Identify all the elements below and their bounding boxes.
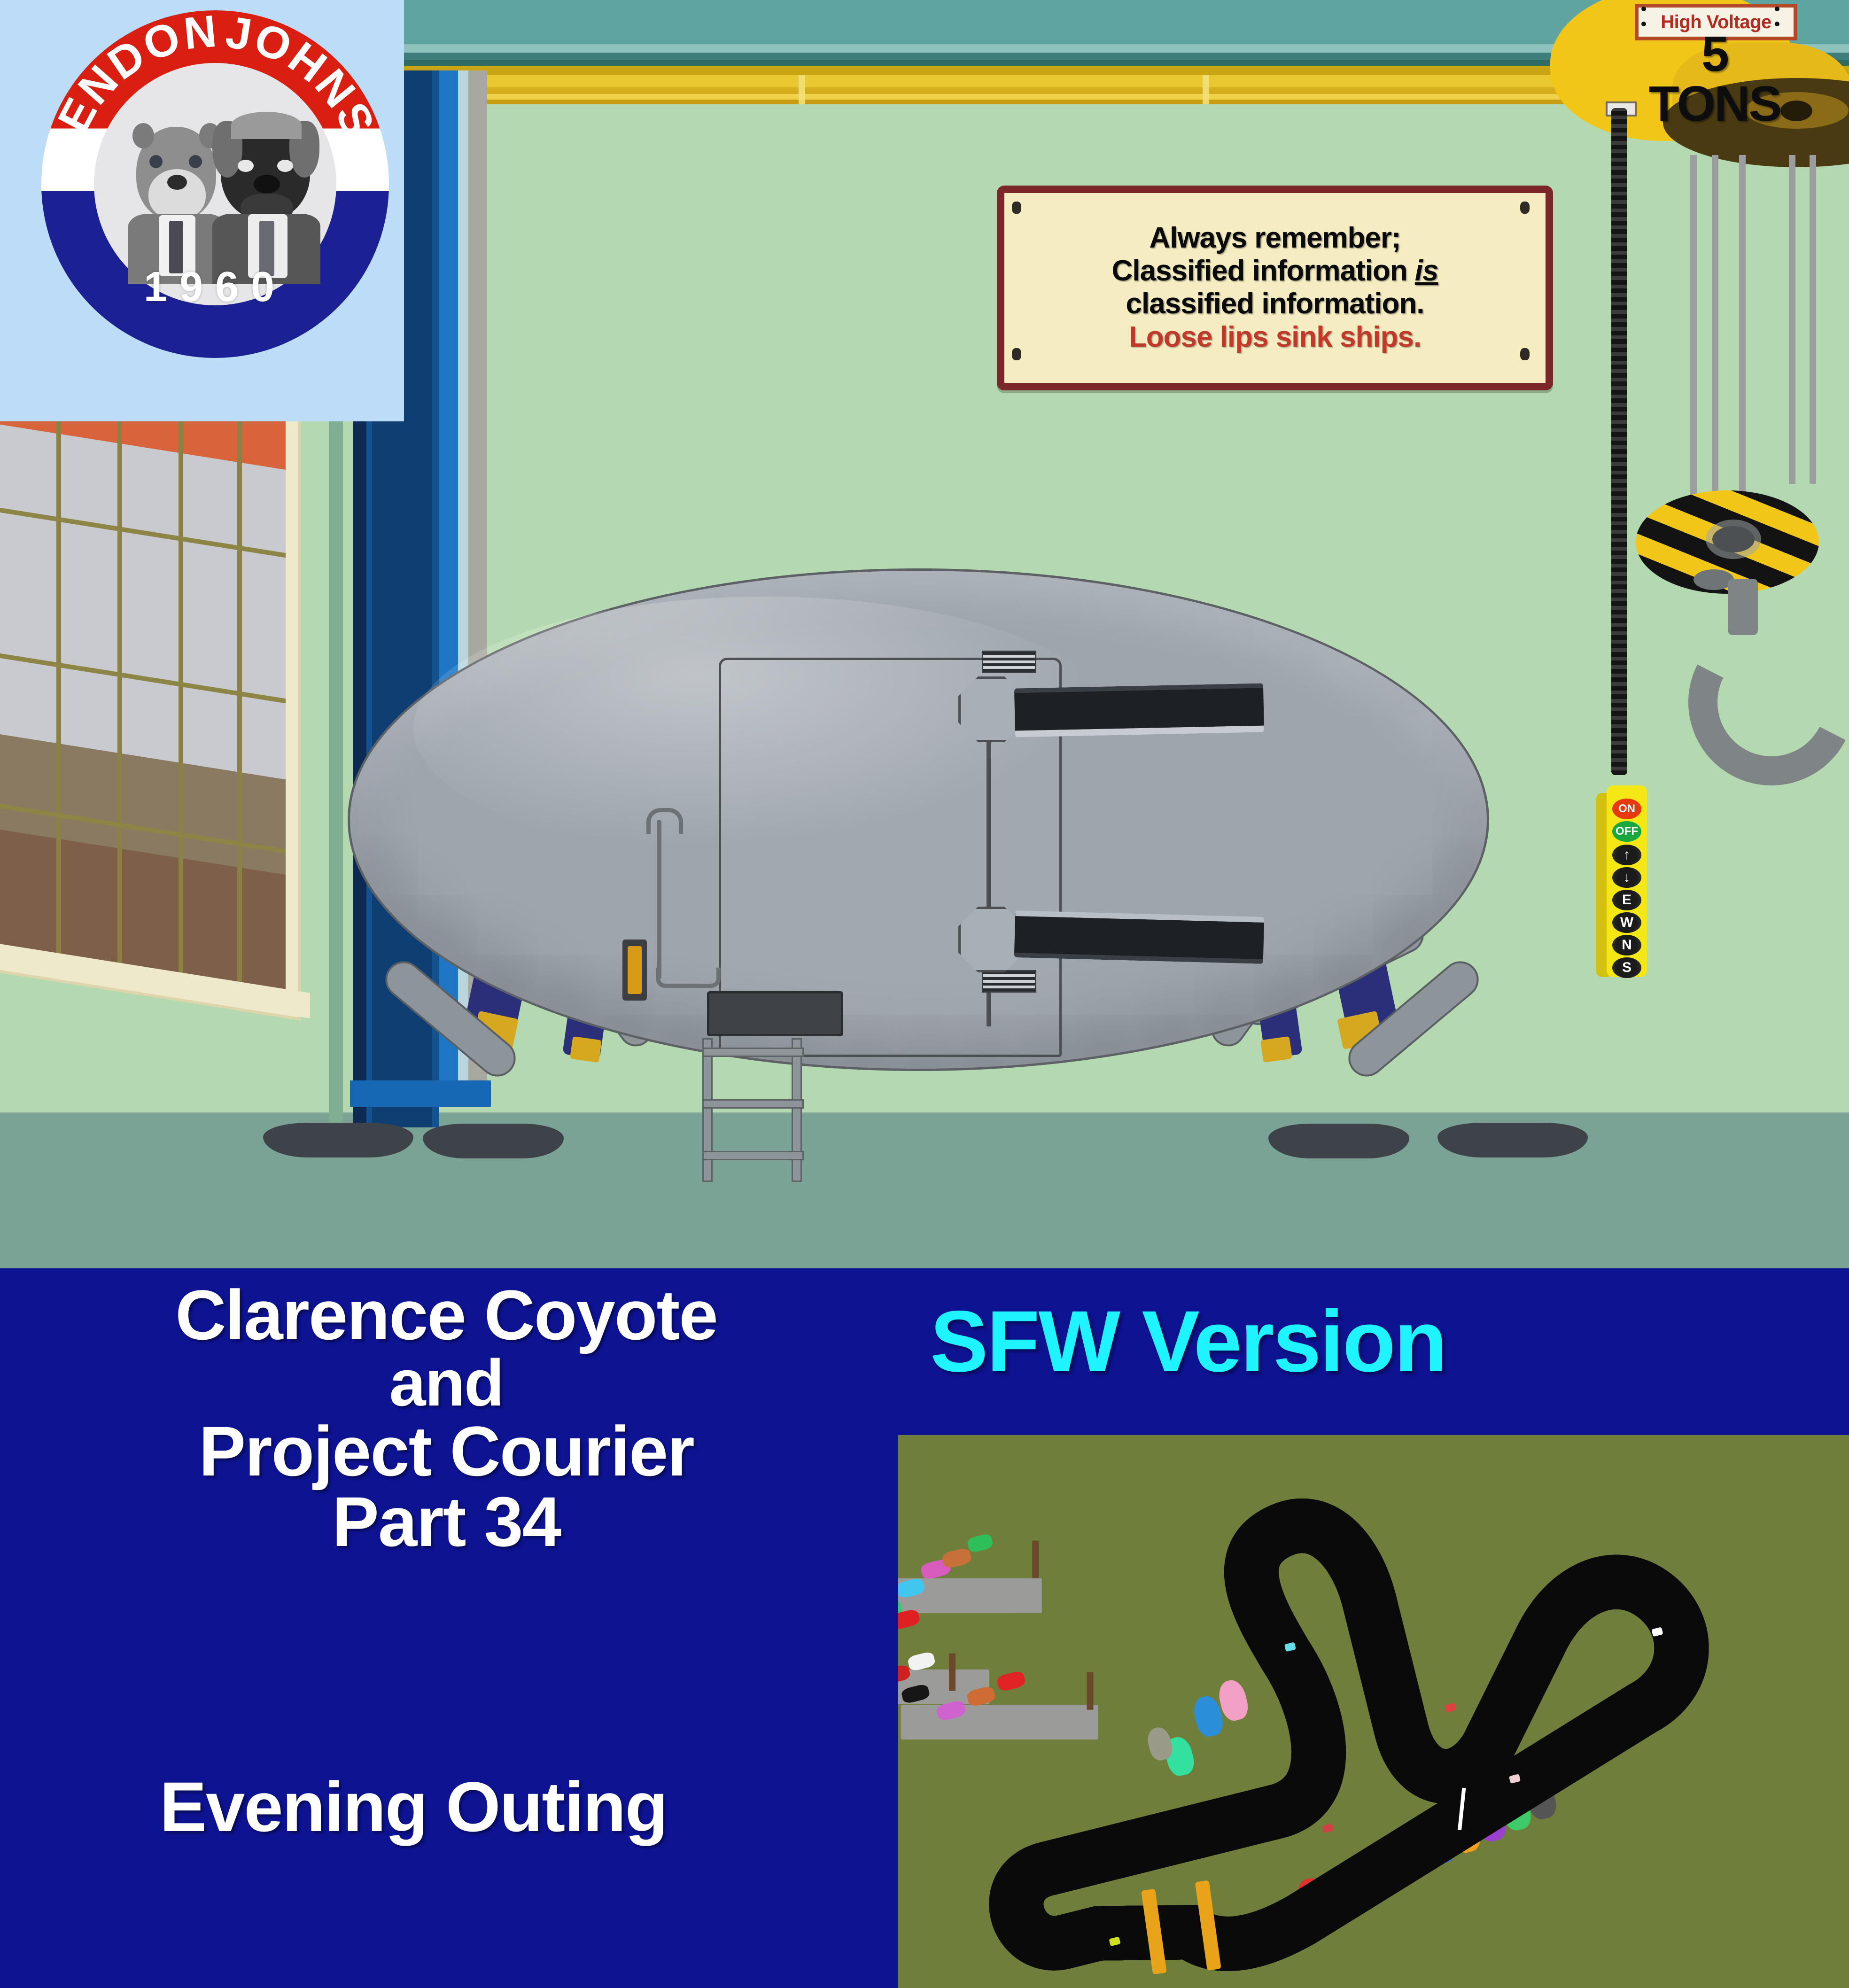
on-button[interactable]: ON — [1612, 799, 1641, 819]
security-notice-sign: Always remember; Classified information … — [997, 186, 1553, 390]
sign-screw — [1520, 202, 1530, 214]
hoist-block-sheave — [1712, 526, 1755, 552]
bridge-south-button[interactable]: S — [1612, 957, 1641, 978]
hull-conduit-end — [656, 968, 721, 988]
crane-capacity-label: 5 TONS — [1630, 29, 1799, 129]
hoist-up-label: ↑ — [1624, 848, 1631, 862]
window-view-outside — [0, 365, 286, 1006]
sign-line-2-text: Classified information — [1111, 255, 1414, 287]
sign-line-3: classified information. — [1126, 287, 1424, 320]
hull-vane-upper — [1014, 683, 1264, 737]
poster-root: Always remember; Classified information … — [0, 0, 1849, 1988]
hull-marker-light — [628, 946, 642, 994]
hoist-down-button[interactable]: ↓ — [1612, 867, 1641, 888]
label-rivet — [1775, 7, 1779, 11]
trolley-east-button[interactable]: E — [1612, 890, 1641, 910]
off-button-label: OFF — [1616, 826, 1638, 837]
crane-hook — [1671, 579, 1812, 734]
window-mullion-vertical — [237, 403, 242, 999]
sign-screw — [1520, 348, 1530, 360]
bridge-south-label: S — [1622, 961, 1631, 975]
bridge-north-button[interactable]: N — [1612, 935, 1641, 955]
hoist-cable — [1810, 155, 1816, 484]
hull-vane-lower — [1014, 910, 1264, 964]
bridge-north-label: N — [1622, 938, 1632, 952]
trolley-east-label: E — [1622, 893, 1631, 907]
landing-pad — [263, 1123, 413, 1157]
label-rivet — [1641, 7, 1646, 11]
window-mullion-vertical — [56, 374, 61, 971]
boarding-ladder — [702, 1038, 801, 1179]
sign-screw — [1012, 202, 1021, 214]
hoist-up-button[interactable]: ↑ — [1612, 845, 1641, 865]
logo-year: 1960 — [41, 263, 389, 311]
sign-line-1: Always remember; — [1149, 222, 1400, 255]
title-line-2: and — [0, 1350, 893, 1416]
hatch-latch-bottom — [982, 970, 1036, 993]
hoist-down-label: ↓ — [1624, 870, 1631, 885]
on-button-label: ON — [1618, 803, 1635, 815]
svg-text:KENDON: KENDON — [41, 10, 220, 171]
label-rivet — [1775, 22, 1779, 26]
sign-line-2-emphasis: is — [1415, 255, 1438, 287]
landing-pad — [1268, 1124, 1409, 1158]
title-line-3: Project Courier — [0, 1416, 893, 1486]
sign-warning-line: Loose lips sink ships. — [1129, 320, 1421, 354]
pendant-cable — [1611, 108, 1627, 775]
sfw-version-badge: SFW Version — [930, 1292, 1823, 1391]
sign-line-2: Classified information is — [1111, 255, 1438, 287]
title-line-1: Clarence Coyote — [0, 1280, 893, 1350]
hull-conduit-bend — [646, 808, 683, 834]
hangar-scene: Always remember; Classified information … — [0, 0, 1849, 1268]
landing-pad — [1437, 1123, 1588, 1157]
hull-conduit — [657, 820, 661, 979]
window-mullion-vertical — [117, 383, 122, 980]
sign-screw — [1012, 348, 1021, 360]
hatch-latch-top — [982, 651, 1036, 673]
hoist-cable — [1690, 155, 1697, 503]
off-button[interactable]: OFF — [1612, 821, 1641, 842]
window-mullion-vertical — [179, 393, 183, 990]
series-title: Clarence Coyote and Project Courier Part… — [0, 1280, 893, 1557]
track-contents — [898, 1435, 1849, 1988]
slot-car-track-photo — [898, 1435, 1849, 1988]
title-line-4: Part 34 — [0, 1486, 893, 1557]
rail-hanger — [799, 75, 805, 104]
trolley-west-button[interactable]: W — [1612, 912, 1641, 933]
window-glass-area — [0, 351, 301, 1021]
hoist-cable — [1789, 155, 1795, 484]
rail-hanger — [1203, 75, 1209, 104]
hull-vent-grille — [707, 991, 843, 1036]
landing-pad — [423, 1124, 564, 1158]
column-base-plate — [350, 1080, 491, 1107]
trolley-west-label: W — [1620, 916, 1633, 930]
studio-logo-panel: KENDON JOHNSTON 1960 — [0, 0, 404, 421]
label-rivet — [1641, 22, 1646, 26]
hoist-cable — [1712, 155, 1718, 493]
hoist-cable — [1739, 155, 1746, 493]
race-track-lanes — [898, 1435, 1849, 1988]
episode-subtitle: Evening Outing — [0, 1766, 827, 1848]
